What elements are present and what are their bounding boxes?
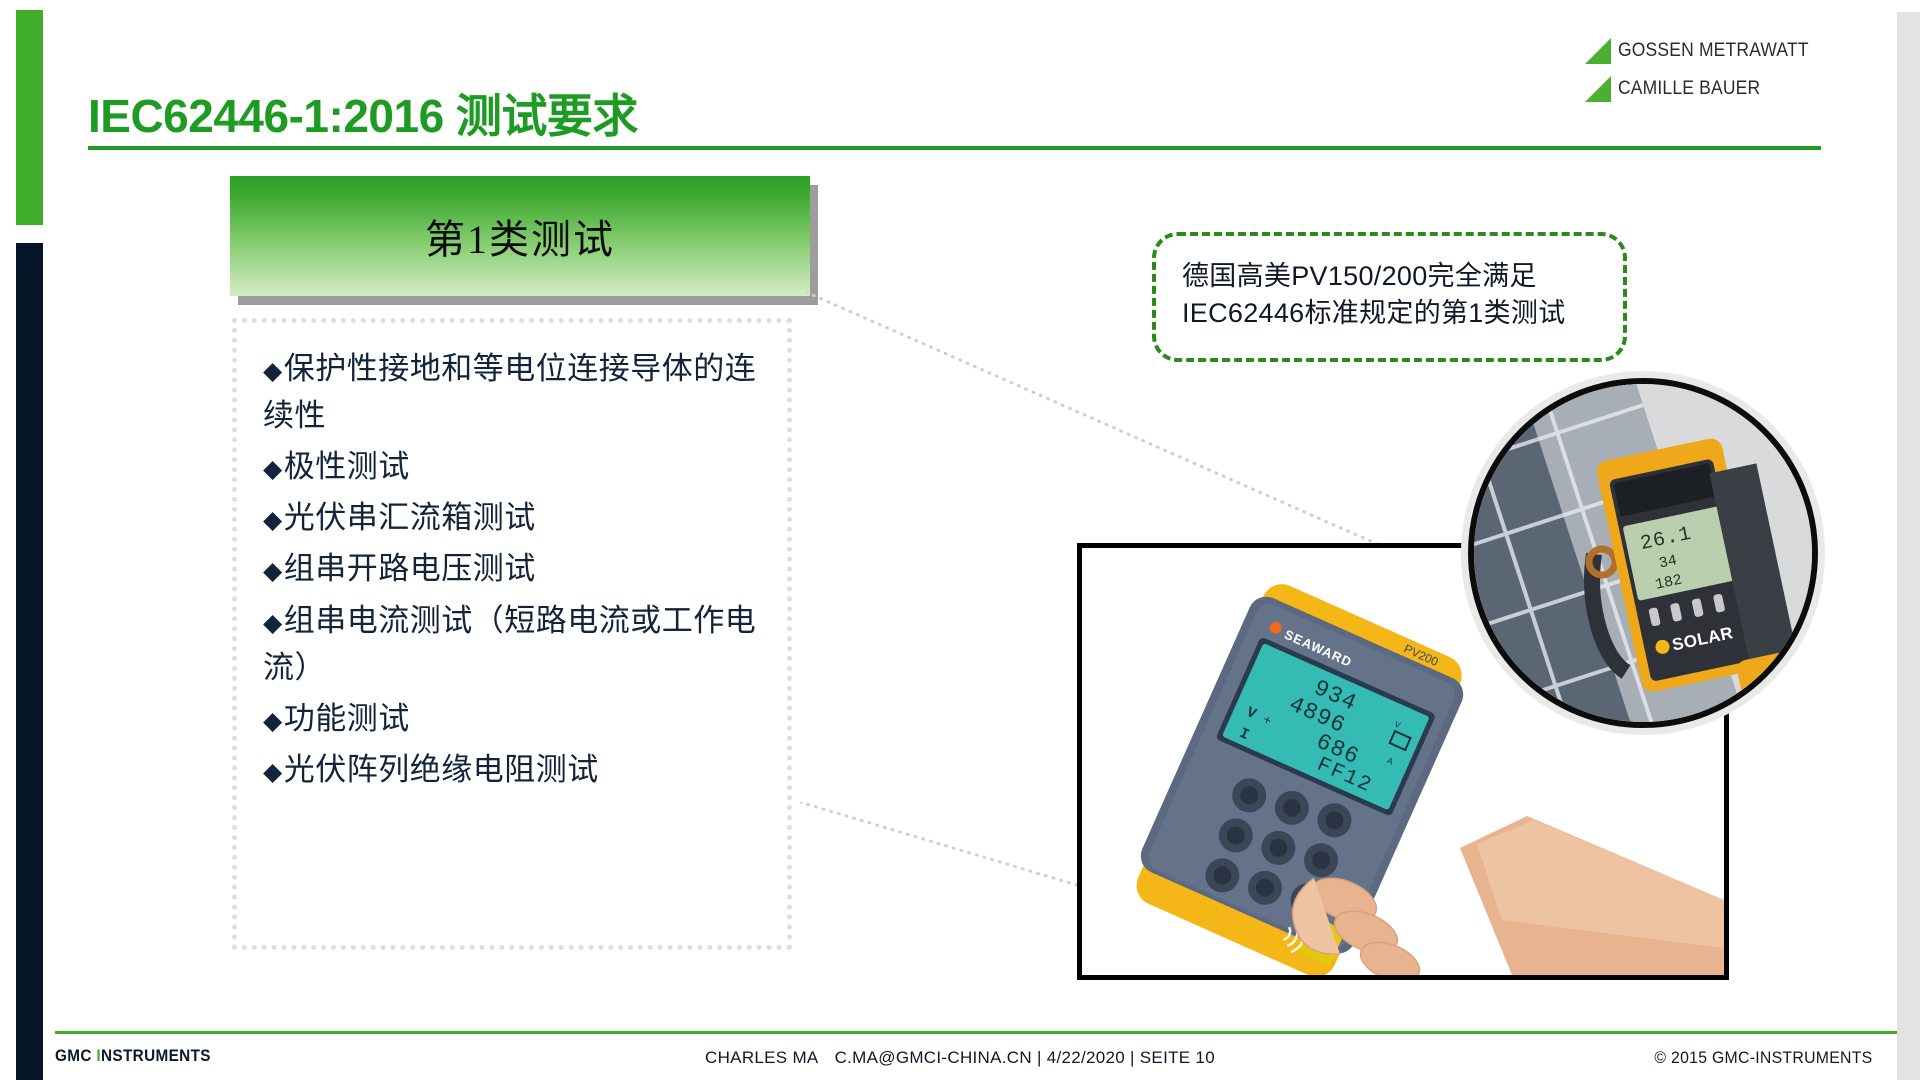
list-item-label: 极性测试 bbox=[284, 449, 410, 484]
page-edge-strip bbox=[1897, 12, 1920, 1080]
list-item-label: 光伏阵列绝缘电阻测试 bbox=[284, 752, 599, 787]
diamond-bullet-icon: ◆ bbox=[263, 506, 283, 534]
title-underline bbox=[88, 146, 1821, 150]
list-item: ◆组串开路电压测试 bbox=[263, 545, 761, 592]
plate-label: 第1类测试 bbox=[425, 207, 615, 265]
brand-row-gossen: GOSSEN METRAWATT bbox=[1585, 32, 1825, 70]
footer-divider bbox=[55, 1031, 1897, 1034]
list-item-label: 组串开路电压测试 bbox=[284, 551, 536, 586]
list-item: ◆光伏串汇流箱测试 bbox=[263, 494, 761, 541]
list-item-label: 组串电流测试（短路电流或工作电流） bbox=[263, 603, 756, 685]
callout-box: 德国高美PV150/200完全满足 IEC62446标准规定的第1类测试 bbox=[1152, 232, 1627, 362]
triangle-icon bbox=[1585, 38, 1611, 64]
callout-line-2: IEC62446标准规定的第1类测试 bbox=[1182, 295, 1605, 332]
list-item-label: 光伏串汇流箱测试 bbox=[284, 500, 536, 535]
diamond-bullet-icon: ◆ bbox=[263, 357, 283, 385]
diamond-bullet-icon: ◆ bbox=[263, 609, 283, 637]
page-title: IEC62446-1:2016 测试要求 bbox=[88, 80, 638, 146]
list-item-label: 保护性接地和等电位连接导体的连续性 bbox=[263, 351, 756, 433]
inset-photo-circle: 26.1 34 182 SOLAR bbox=[1468, 378, 1818, 728]
brand-row-camille: CAMILLE BAUER bbox=[1585, 70, 1825, 108]
brand-line-2: CAMILLE BAUER bbox=[1618, 78, 1760, 100]
footer-center-text: CHARLES MAC.MA@GMCI-CHINA.CN | 4/22/2020… bbox=[0, 1048, 1920, 1068]
brand-logo: GOSSEN METRAWATT CAMILLE BAUER bbox=[1585, 32, 1825, 108]
inset-photo-illustration: 26.1 34 182 SOLAR bbox=[1474, 384, 1812, 722]
brand-line-1: GOSSEN METRAWATT bbox=[1618, 40, 1809, 62]
slide-root: IEC62446-1:2016 测试要求 GOSSEN METRAWATT CA… bbox=[0, 0, 1920, 1080]
list-item: ◆功能测试 bbox=[263, 695, 761, 742]
triangle-icon bbox=[1585, 76, 1611, 102]
left-accent-bar-green bbox=[16, 10, 43, 225]
list-item-label: 功能测试 bbox=[284, 701, 410, 736]
footer-copyright: © 2015 GMC-INSTRUMENTS bbox=[1654, 1048, 1872, 1068]
list-item: ◆极性测试 bbox=[263, 443, 761, 490]
footer-meta: C.MA@GMCI-CHINA.CN | 4/22/2020 | SEITE 1… bbox=[835, 1048, 1215, 1067]
category-header-plate: 第1类测试 bbox=[230, 176, 810, 296]
bullet-list-panel: ◆保护性接地和等电位连接导体的连续性 ◆极性测试 ◆光伏串汇流箱测试 ◆组串开路… bbox=[232, 318, 792, 950]
footer-author: CHARLES MA bbox=[705, 1048, 819, 1067]
list-item: ◆光伏阵列绝缘电阻测试 bbox=[263, 746, 761, 793]
plate-body: 第1类测试 bbox=[230, 176, 810, 296]
list-item: ◆组串电流测试（短路电流或工作电流） bbox=[263, 597, 761, 691]
diamond-bullet-icon: ◆ bbox=[263, 455, 283, 483]
left-accent-bar-dark bbox=[16, 243, 43, 1080]
connector-line-bullets-to-photo bbox=[800, 802, 1090, 932]
diamond-bullet-icon: ◆ bbox=[263, 557, 283, 585]
callout-line-1: 德国高美PV150/200完全满足 bbox=[1182, 258, 1605, 295]
diamond-bullet-icon: ◆ bbox=[263, 758, 283, 786]
list-item: ◆保护性接地和等电位连接导体的连续性 bbox=[263, 345, 761, 439]
diamond-bullet-icon: ◆ bbox=[263, 707, 283, 735]
